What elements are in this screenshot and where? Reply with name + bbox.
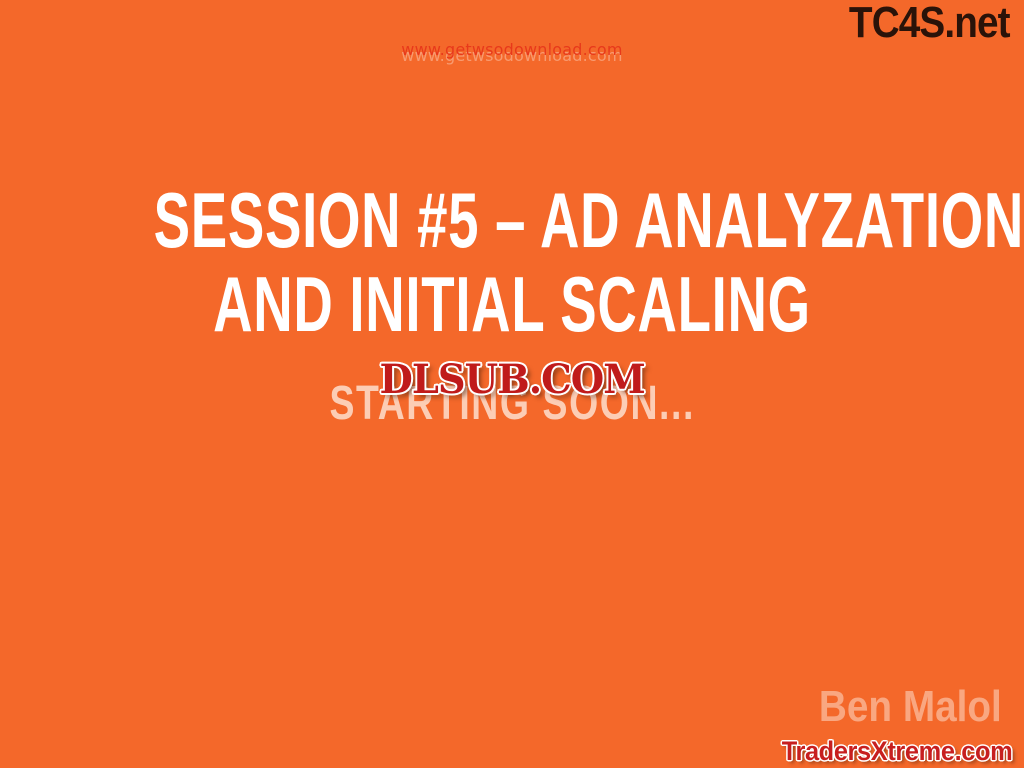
source-url-watermark-ghost: www.getwsodownload.com — [0, 46, 1024, 65]
slide-title: SESSION #5 – AD ANALYZATION AND INITIAL … — [0, 178, 1024, 346]
slide-title-line-1: SESSION #5 – AD ANALYZATION — [154, 178, 871, 262]
presenter-name: Ben Malol — [819, 682, 1002, 732]
slide-title-line-2: AND INITIAL SCALING — [154, 262, 871, 346]
status-text-label: STARTING SOON... — [329, 376, 694, 431]
tradersxtreme-watermark: TradersXtreme.com — [781, 736, 1012, 767]
presentation-slide: www.getwsodownload.com www.getwsodownloa… — [0, 0, 1024, 768]
status-text: STARTING SOON... — [0, 376, 1024, 431]
tc4s-logo: TC4S.net — [849, 0, 1010, 48]
